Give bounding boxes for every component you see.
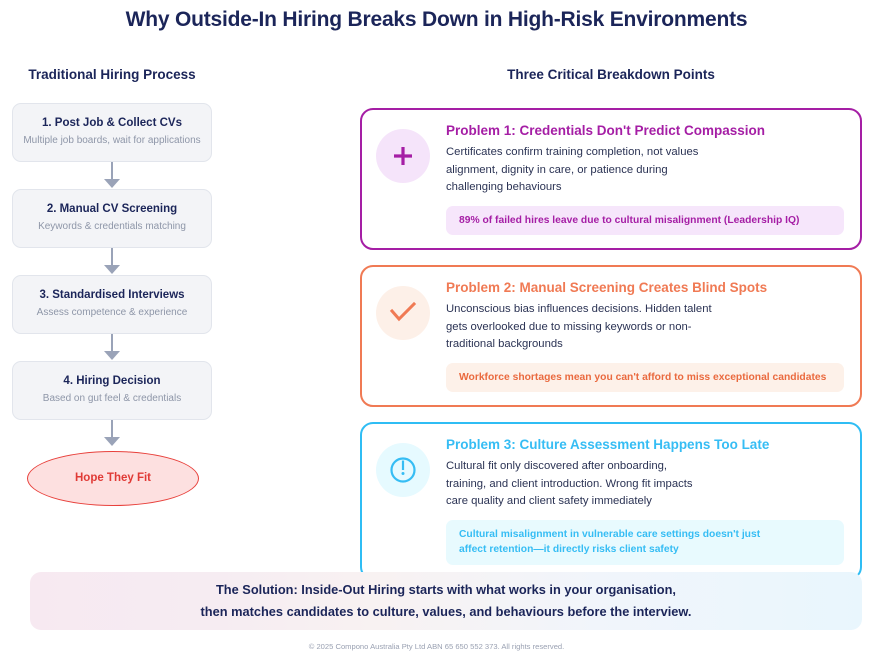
left-column-heading: Traditional Hiring Process: [12, 67, 212, 82]
flow-step-subtitle: Assess competence & experience: [21, 307, 203, 320]
clock-alert-icon: [376, 443, 430, 497]
problem-card-3[interactable]: Problem 3: Culture Assessment Happens To…: [360, 422, 862, 580]
problem-card-body: Problem 2: Manual Screening Creates Blin…: [446, 280, 844, 392]
flow-connector-arrow: [12, 248, 212, 275]
flow-step-4: 4. Hiring Decision Based on gut feel & c…: [12, 361, 212, 420]
breakdown-points-list: Problem 1: Credentials Don't Predict Com…: [360, 108, 862, 595]
flow-step-1: 1. Post Job & Collect CVs Multiple job b…: [12, 103, 212, 162]
flow-step-title: 1. Post Job & Collect CVs: [21, 116, 203, 130]
problem-card-title: Problem 1: Credentials Don't Predict Com…: [446, 123, 844, 139]
page-title: Why Outside-In Hiring Breaks Down in Hig…: [0, 8, 873, 32]
solution-banner: The Solution: Inside-Out Hiring starts w…: [30, 572, 862, 630]
flow-connector-arrow: [12, 334, 212, 361]
problem-card-description: Cultural fit only discovered after onboa…: [446, 458, 844, 511]
flow-step-title: 3. Standardised Interviews: [21, 288, 203, 302]
right-column-heading: Three Critical Breakdown Points: [360, 67, 862, 82]
arrow-down-icon: [104, 179, 120, 188]
problem-card-body: Problem 3: Culture Assessment Happens To…: [446, 437, 844, 565]
flow-connector-arrow: [12, 420, 212, 447]
problem-card-stat-badge: Workforce shortages mean you can't affor…: [446, 363, 844, 392]
traditional-hiring-flowchart: 1. Post Job & Collect CVs Multiple job b…: [12, 103, 212, 506]
problem-card-1[interactable]: Problem 1: Credentials Don't Predict Com…: [360, 108, 862, 250]
problem-card-stat-badge: Cultural misalignment in vulnerable care…: [446, 520, 844, 565]
flow-outcome-label: Hope They Fit: [75, 472, 151, 484]
flow-step-subtitle: Keywords & credentials matching: [21, 221, 203, 234]
flow-connector-arrow: [12, 162, 212, 189]
flow-outcome-ellipse: Hope They Fit: [27, 451, 199, 506]
flow-step-title: 4. Hiring Decision: [21, 374, 203, 388]
problem-card-description: Certificates confirm training completion…: [446, 144, 844, 197]
footer-copyright: © 2025 Compono Australia Pty Ltd ABN 65 …: [0, 642, 873, 651]
problem-card-body: Problem 1: Credentials Don't Predict Com…: [446, 123, 844, 235]
flow-step-2: 2. Manual CV Screening Keywords & creden…: [12, 189, 212, 248]
arrow-down-icon: [104, 437, 120, 446]
arrow-down-icon: [104, 351, 120, 360]
solution-line-1: The Solution: Inside-Out Hiring starts w…: [216, 579, 676, 601]
flow-step-subtitle: Based on gut feel & credentials: [21, 393, 203, 406]
flow-step-3: 3. Standardised Interviews Assess compet…: [12, 275, 212, 334]
flow-step-subtitle: Multiple job boards, wait for applicatio…: [21, 135, 203, 148]
problem-card-title: Problem 2: Manual Screening Creates Blin…: [446, 280, 844, 296]
plus-icon: [376, 129, 430, 183]
solution-line-2: then matches candidates to culture, valu…: [201, 601, 692, 623]
problem-card-title: Problem 3: Culture Assessment Happens To…: [446, 437, 844, 453]
arrow-down-icon: [104, 265, 120, 274]
check-icon: [376, 286, 430, 340]
problem-card-stat-badge: 89% of failed hires leave due to cultura…: [446, 206, 844, 235]
problem-card-2[interactable]: Problem 2: Manual Screening Creates Blin…: [360, 265, 862, 407]
flow-step-title: 2. Manual CV Screening: [21, 202, 203, 216]
problem-card-description: Unconscious bias influences decisions. H…: [446, 301, 844, 354]
